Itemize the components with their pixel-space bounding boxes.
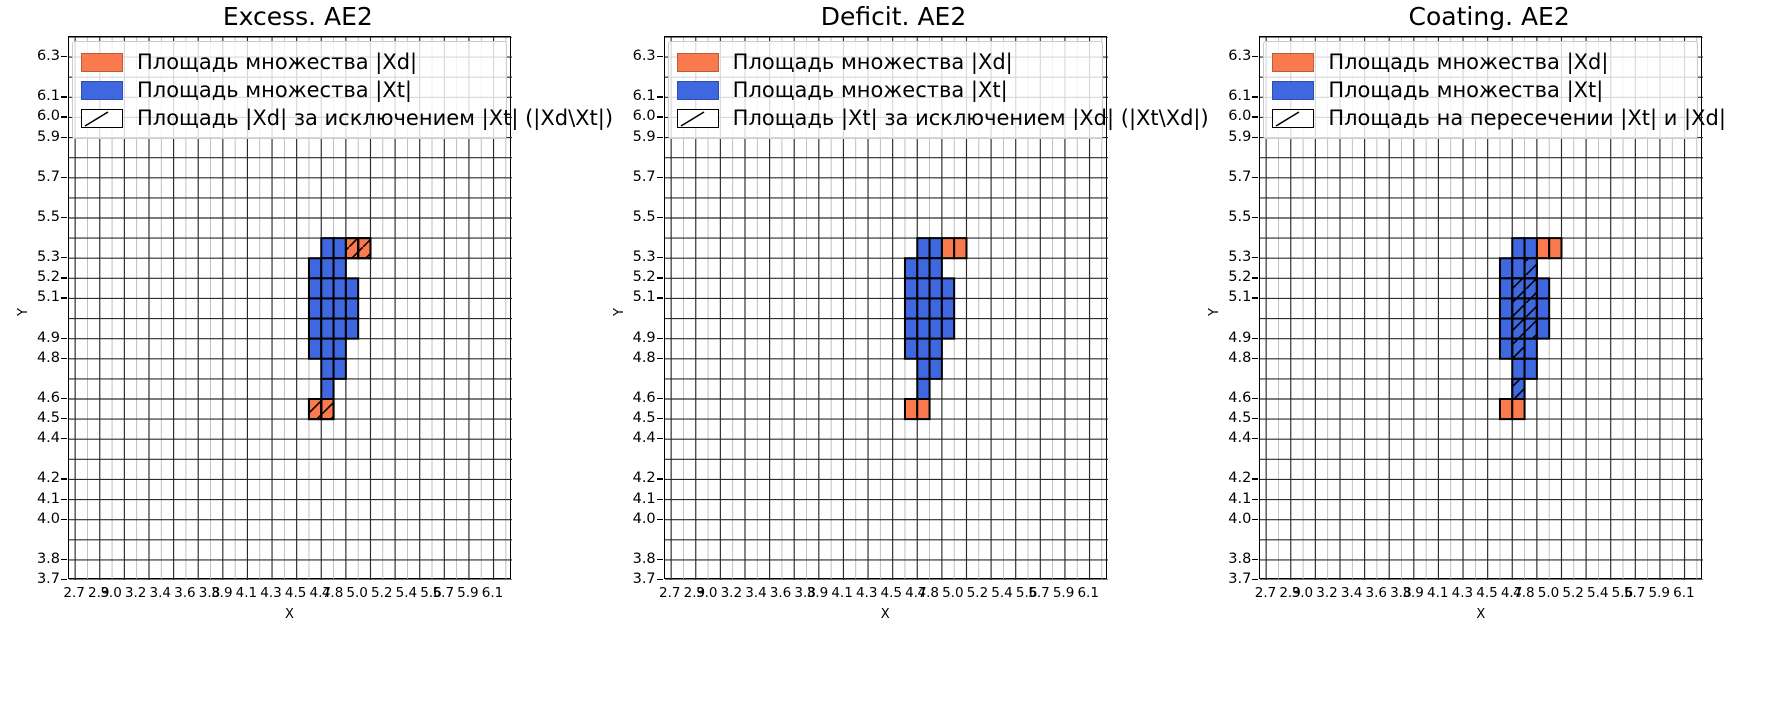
x-axis-label: X — [664, 607, 1107, 622]
grid-cell — [917, 339, 929, 359]
grid-cell — [1525, 359, 1537, 379]
y-tick-mark — [61, 418, 67, 419]
y-tick-mark — [1252, 116, 1258, 117]
grid-cell — [905, 319, 917, 339]
x-axis-tick-label: 5.2 — [1562, 585, 1583, 601]
x-axis-label: X — [1259, 607, 1702, 622]
legend-item[interactable]: Площадь множества |Xt| — [677, 76, 1094, 104]
chart-panel-1: Excess. AE23.73.84.04.14.24.44.54.64.84.… — [0, 0, 596, 709]
x-axis-tick-label: 5.0 — [346, 585, 367, 601]
y-tick-mark — [1252, 96, 1258, 97]
y-axis-tick-label: 4.1 — [1213, 491, 1251, 507]
grid-cell — [917, 258, 929, 278]
y-tick-mark — [657, 499, 663, 500]
grid-cell — [346, 298, 358, 318]
x-axis-tick-label: 4.5 — [285, 585, 306, 601]
y-tick-mark — [1252, 499, 1258, 500]
y-tick-mark — [657, 217, 663, 218]
y-tick-mark — [61, 499, 67, 500]
y-axis-tick-label: 4.9 — [1213, 330, 1251, 346]
grid-cell — [334, 238, 346, 258]
x-axis-tick-label: 3.4 — [1341, 585, 1362, 601]
grid-cell — [929, 278, 941, 298]
y-tick-mark — [61, 559, 67, 560]
grid-cell — [321, 339, 333, 359]
legend-color-swatch — [677, 81, 719, 100]
y-tick-mark — [61, 398, 67, 399]
y-tick-mark — [1252, 338, 1258, 339]
legend-item[interactable]: Площадь множества |Xt| — [1272, 76, 1689, 104]
x-axis-tick-label: 4.5 — [881, 585, 902, 601]
grid-cell — [334, 339, 346, 359]
x-axis-tick-label: 4.1 — [236, 585, 257, 601]
y-axis-tick-label: 6.1 — [1213, 88, 1251, 104]
legend-item[interactable]: Площадь множества |Xd| — [1272, 48, 1689, 76]
x-axis-tick-label: 5.4 — [396, 585, 417, 601]
y-axis-tick-label: 4.6 — [22, 390, 60, 406]
grid-cell — [309, 319, 321, 339]
panel-title: Deficit. AE2 — [596, 2, 1192, 31]
y-axis-tick-label: 5.9 — [618, 129, 656, 145]
x-axis-tick-label: 4.8 — [917, 585, 938, 601]
y-axis-tick-label: 6.1 — [618, 88, 656, 104]
y-axis-tick-label: 4.2 — [618, 470, 656, 486]
y-tick-mark — [1252, 418, 1258, 419]
y-axis-tick-label: 3.7 — [1213, 571, 1251, 587]
x-axis-tick-label: 6.1 — [1673, 585, 1694, 601]
legend-label: Площадь множества |Xd| — [733, 52, 1013, 73]
x-axis-tick-label: 5.9 — [1649, 585, 1670, 601]
y-axis-tick-label: 3.8 — [1213, 551, 1251, 567]
x-axis-tick-label: 5.7 — [1028, 585, 1049, 601]
legend-label: Площадь множества |Xd| — [1328, 52, 1608, 73]
y-tick-mark — [1252, 217, 1258, 218]
x-axis-tick-label: 3.0 — [696, 585, 717, 601]
x-axis-label: X — [68, 607, 511, 622]
legend: Площадь множества |Xd|Площадь множества … — [1263, 41, 1698, 139]
y-tick-mark — [1252, 297, 1258, 298]
y-axis-tick-label: 4.0 — [22, 511, 60, 527]
y-axis-tick-label: 5.5 — [22, 209, 60, 225]
grid-cell — [905, 278, 917, 298]
y-tick-mark — [1252, 579, 1258, 580]
grid-cell — [321, 298, 333, 318]
grid-cell — [334, 359, 346, 379]
grid-cell — [1500, 399, 1512, 419]
grid-cell — [929, 298, 941, 318]
legend-color-swatch — [81, 53, 123, 72]
y-axis-tick-label: 6.3 — [22, 48, 60, 64]
y-tick-mark — [1252, 519, 1258, 520]
grid-cell — [1525, 258, 1537, 278]
y-tick-mark — [1252, 438, 1258, 439]
grid-cell — [321, 379, 333, 399]
y-tick-mark — [61, 56, 67, 57]
grid-cell — [321, 238, 333, 258]
legend-item[interactable]: Площадь на пересечении |Xt| и |Xd| — [1272, 104, 1689, 132]
x-axis-tick-label: 3.9 — [211, 585, 232, 601]
x-axis-tick-label: 5.0 — [942, 585, 963, 601]
grid-cell — [1513, 238, 1525, 258]
y-axis-tick-label: 5.7 — [618, 169, 656, 185]
x-axis-tick-label: 5.2 — [371, 585, 392, 601]
x-axis-tick-label: 4.5 — [1476, 585, 1497, 601]
grid-cell — [334, 319, 346, 339]
y-tick-mark — [657, 519, 663, 520]
grid-cell — [321, 278, 333, 298]
grid-cell — [1513, 339, 1525, 359]
y-tick-mark — [61, 217, 67, 218]
legend-color-swatch — [81, 81, 123, 100]
y-tick-mark — [657, 338, 663, 339]
legend: Площадь множества |Xd|Площадь множества … — [72, 41, 507, 139]
x-axis-tick-label: 4.8 — [1513, 585, 1534, 601]
panel-title: Coating. AE2 — [1191, 2, 1787, 31]
legend-item[interactable]: Площадь |Xd| за исключением |Xt| (|Xd\Xt… — [81, 104, 498, 132]
grid-cell — [1513, 278, 1525, 298]
y-axis-tick-label: 4.5 — [618, 410, 656, 426]
grid-cell — [1537, 278, 1549, 298]
legend-label: Площадь множества |Xt| — [1328, 80, 1603, 101]
x-axis-tick-label: 3.9 — [1402, 585, 1423, 601]
y-tick-mark — [657, 579, 663, 580]
grid-cell — [321, 399, 333, 419]
y-axis-tick-label: 4.8 — [1213, 350, 1251, 366]
legend-label: Площадь множества |Xt| — [137, 80, 412, 101]
y-axis-tick-label: 5.2 — [618, 269, 656, 285]
grid-cell — [1525, 319, 1537, 339]
y-axis-tick-label: 5.7 — [1213, 169, 1251, 185]
grid-cell — [1513, 298, 1525, 318]
grid-cell — [309, 339, 321, 359]
x-axis-tick-label: 6.1 — [482, 585, 503, 601]
y-tick-mark — [657, 257, 663, 258]
y-tick-mark — [657, 418, 663, 419]
x-axis-tick-label: 5.2 — [967, 585, 988, 601]
y-axis-tick-label: 5.5 — [1213, 209, 1251, 225]
x-axis-tick-label: 5.9 — [457, 585, 478, 601]
grid-cell — [917, 319, 929, 339]
y-tick-mark — [657, 116, 663, 117]
grid-cell — [917, 238, 929, 258]
chart-panel-3: Coating. AE23.73.84.04.14.24.44.54.64.84… — [1191, 0, 1787, 709]
y-axis-tick-label: 4.5 — [1213, 410, 1251, 426]
legend-hatch-swatch — [81, 109, 123, 128]
x-axis-tick-label: 4.1 — [1427, 585, 1448, 601]
y-tick-mark — [1252, 358, 1258, 359]
x-axis-tick-label: 2.7 — [1255, 585, 1276, 601]
grid-cell — [1525, 339, 1537, 359]
x-axis-tick-label: 5.4 — [1587, 585, 1608, 601]
legend-hatch-swatch — [1272, 109, 1314, 128]
grid-cell — [929, 238, 941, 258]
legend-item[interactable]: Площадь множества |Xd| — [677, 48, 1094, 76]
y-tick-mark — [61, 96, 67, 97]
grid-cell — [1500, 278, 1512, 298]
legend-label: Площадь на пересечении |Xt| и |Xd| — [1328, 108, 1726, 129]
legend-color-swatch — [1272, 81, 1314, 100]
y-axis-tick-label: 3.8 — [618, 551, 656, 567]
x-axis-tick-label: 3.6 — [174, 585, 195, 601]
y-axis-tick-label: 6.1 — [22, 88, 60, 104]
grid-cell — [942, 238, 954, 258]
grid-cell — [1525, 278, 1537, 298]
legend-item[interactable]: Площадь множества |Xt| — [81, 76, 498, 104]
grid-cell — [309, 298, 321, 318]
legend-item[interactable]: Площадь |Xt| за исключением |Xd| (|Xt\Xd… — [677, 104, 1094, 132]
x-axis-tick-label: 4.3 — [260, 585, 281, 601]
grid-cell — [942, 298, 954, 318]
x-axis-tick-label: 3.6 — [1365, 585, 1386, 601]
y-axis-tick-label: 5.1 — [618, 289, 656, 305]
y-tick-mark — [61, 277, 67, 278]
y-tick-mark — [1252, 257, 1258, 258]
y-axis-tick-label: 4.9 — [618, 330, 656, 346]
legend-hatch-swatch — [677, 109, 719, 128]
grid-cell — [905, 399, 917, 419]
figure-canvas: Excess. AE23.73.84.04.14.24.44.54.64.84.… — [0, 0, 1787, 709]
y-axis-tick-label: 4.2 — [22, 470, 60, 486]
y-axis-tick-label: 5.5 — [618, 209, 656, 225]
y-tick-mark — [657, 277, 663, 278]
y-axis-tick-label: 4.2 — [1213, 470, 1251, 486]
y-tick-mark — [657, 398, 663, 399]
y-tick-mark — [657, 478, 663, 479]
grid-cell — [942, 278, 954, 298]
y-tick-mark — [657, 559, 663, 560]
x-axis-tick-label: 3.4 — [150, 585, 171, 601]
x-axis-tick-label: 3.4 — [745, 585, 766, 601]
x-axis-tick-label: 3.2 — [1316, 585, 1337, 601]
grid-cell — [1537, 319, 1549, 339]
y-tick-mark — [657, 177, 663, 178]
y-tick-mark — [61, 297, 67, 298]
legend-label: Площадь |Xt| за исключением |Xd| (|Xt\Xd… — [733, 108, 1209, 129]
y-axis-label: Y — [1207, 308, 1222, 316]
grid-cell — [1500, 339, 1512, 359]
y-axis-tick-label: 4.6 — [618, 390, 656, 406]
x-axis-tick-label: 5.4 — [991, 585, 1012, 601]
grid-cell — [1500, 319, 1512, 339]
y-axis-tick-label: 4.1 — [22, 491, 60, 507]
legend: Площадь множества |Xd|Площадь множества … — [668, 41, 1103, 139]
y-tick-mark — [61, 116, 67, 117]
y-axis-label: Y — [16, 308, 31, 316]
legend-color-swatch — [1272, 53, 1314, 72]
x-axis-tick-label: 3.2 — [125, 585, 146, 601]
y-axis-tick-label: 4.5 — [22, 410, 60, 426]
y-tick-mark — [61, 358, 67, 359]
grid-cell — [1525, 298, 1537, 318]
grid-cell — [942, 319, 954, 339]
x-axis-tick-label: 4.8 — [322, 585, 343, 601]
grid-cell — [321, 258, 333, 278]
y-axis-tick-label: 3.7 — [618, 571, 656, 587]
y-axis-tick-label: 5.9 — [1213, 129, 1251, 145]
grid-cell — [346, 278, 358, 298]
grid-cell — [334, 278, 346, 298]
y-axis-tick-label: 5.2 — [22, 269, 60, 285]
grid-cell — [954, 238, 966, 258]
y-axis-tick-label: 4.4 — [1213, 430, 1251, 446]
y-tick-mark — [1252, 559, 1258, 560]
y-tick-mark — [657, 297, 663, 298]
y-axis-tick-label: 5.3 — [22, 249, 60, 265]
y-axis-tick-label: 3.7 — [22, 571, 60, 587]
grid-cell — [1537, 298, 1549, 318]
x-axis-tick-label: 4.3 — [1452, 585, 1473, 601]
chart-panel-2: Deficit. AE23.73.84.04.14.24.44.54.64.84… — [596, 0, 1192, 709]
x-axis-tick-label: 3.6 — [770, 585, 791, 601]
y-axis-tick-label: 6.0 — [618, 108, 656, 124]
grid-cell — [917, 399, 929, 419]
y-axis-tick-label: 4.1 — [618, 491, 656, 507]
y-axis-tick-label: 5.2 — [1213, 269, 1251, 285]
grid-cell — [917, 298, 929, 318]
grid-cell — [917, 278, 929, 298]
y-axis-tick-label: 5.9 — [22, 129, 60, 145]
grid-cell — [1513, 319, 1525, 339]
y-axis-tick-label: 5.3 — [1213, 249, 1251, 265]
y-tick-mark — [61, 438, 67, 439]
y-axis-tick-label: 5.3 — [618, 249, 656, 265]
grid-cell — [1513, 359, 1525, 379]
y-tick-mark — [657, 56, 663, 57]
grid-cell — [346, 238, 358, 258]
x-axis-tick-label: 2.7 — [659, 585, 680, 601]
y-axis-tick-label: 4.4 — [22, 430, 60, 446]
y-tick-mark — [657, 358, 663, 359]
legend-label: Площадь множества |Xd| — [137, 52, 417, 73]
grid-cell — [917, 379, 929, 399]
grid-cell — [1500, 258, 1512, 278]
grid-cell — [1513, 258, 1525, 278]
grid-cell — [1513, 399, 1525, 419]
y-tick-mark — [61, 137, 67, 138]
y-tick-mark — [1252, 137, 1258, 138]
y-axis-tick-label: 6.0 — [22, 108, 60, 124]
x-axis-tick-label: 3.2 — [721, 585, 742, 601]
grid-cell — [929, 319, 941, 339]
x-axis-tick-label: 6.1 — [1077, 585, 1098, 601]
x-axis-tick-label: 5.0 — [1538, 585, 1559, 601]
x-axis-tick-label: 5.7 — [433, 585, 454, 601]
x-axis-tick-label: 5.9 — [1053, 585, 1074, 601]
y-axis-tick-label: 4.0 — [1213, 511, 1251, 527]
grid-cell — [1537, 238, 1549, 258]
x-axis-tick-label: 3.0 — [100, 585, 121, 601]
grid-cell — [917, 359, 929, 379]
y-tick-mark — [1252, 478, 1258, 479]
legend-item[interactable]: Площадь множества |Xd| — [81, 48, 498, 76]
y-tick-mark — [657, 438, 663, 439]
grid-cell — [334, 298, 346, 318]
y-axis-tick-label: 5.1 — [1213, 289, 1251, 305]
grid-cell — [309, 399, 321, 419]
y-tick-mark — [1252, 277, 1258, 278]
y-tick-mark — [61, 579, 67, 580]
grid-cell — [321, 359, 333, 379]
grid-cell — [1550, 238, 1562, 258]
grid-cell — [309, 258, 321, 278]
y-axis-tick-label: 6.3 — [618, 48, 656, 64]
y-tick-mark — [61, 519, 67, 520]
x-axis-tick-label: 4.1 — [831, 585, 852, 601]
x-axis-tick-label: 2.7 — [63, 585, 84, 601]
y-tick-mark — [1252, 398, 1258, 399]
grid-cell — [929, 258, 941, 278]
grid-cell — [334, 258, 346, 278]
legend-color-swatch — [677, 53, 719, 72]
y-tick-mark — [1252, 56, 1258, 57]
y-axis-tick-label: 5.1 — [22, 289, 60, 305]
y-axis-tick-label: 5.7 — [22, 169, 60, 185]
grid-cell — [905, 258, 917, 278]
x-axis-tick-label: 3.0 — [1292, 585, 1313, 601]
y-axis-tick-label: 3.8 — [22, 551, 60, 567]
grid-cell — [929, 339, 941, 359]
grid-cell — [929, 359, 941, 379]
y-tick-mark — [61, 177, 67, 178]
grid-cell — [346, 319, 358, 339]
x-axis-tick-label: 5.7 — [1624, 585, 1645, 601]
legend-label: Площадь |Xd| за исключением |Xt| (|Xd\Xt… — [137, 108, 613, 129]
legend-label: Площадь множества |Xt| — [733, 80, 1008, 101]
y-tick-mark — [657, 96, 663, 97]
y-tick-mark — [61, 338, 67, 339]
y-tick-mark — [61, 257, 67, 258]
x-axis-tick-label: 3.9 — [807, 585, 828, 601]
grid-cell — [1525, 238, 1537, 258]
panel-title: Excess. AE2 — [0, 2, 596, 31]
y-axis-tick-label: 4.6 — [1213, 390, 1251, 406]
grid-cell — [1500, 298, 1512, 318]
y-axis-tick-label: 4.9 — [22, 330, 60, 346]
y-axis-label: Y — [612, 308, 627, 316]
y-axis-tick-label: 4.8 — [618, 350, 656, 366]
y-tick-mark — [1252, 177, 1258, 178]
grid-cell — [321, 319, 333, 339]
x-axis-tick-label: 4.3 — [856, 585, 877, 601]
grid-cell — [1513, 379, 1525, 399]
grid-cell — [905, 339, 917, 359]
grid-cell — [309, 278, 321, 298]
y-tick-mark — [61, 478, 67, 479]
y-tick-mark — [657, 137, 663, 138]
y-axis-tick-label: 4.0 — [618, 511, 656, 527]
grid-cell — [905, 298, 917, 318]
y-axis-tick-label: 4.8 — [22, 350, 60, 366]
y-axis-tick-label: 6.3 — [1213, 48, 1251, 64]
grid-cell — [358, 238, 370, 258]
y-axis-tick-label: 4.4 — [618, 430, 656, 446]
y-axis-tick-label: 6.0 — [1213, 108, 1251, 124]
